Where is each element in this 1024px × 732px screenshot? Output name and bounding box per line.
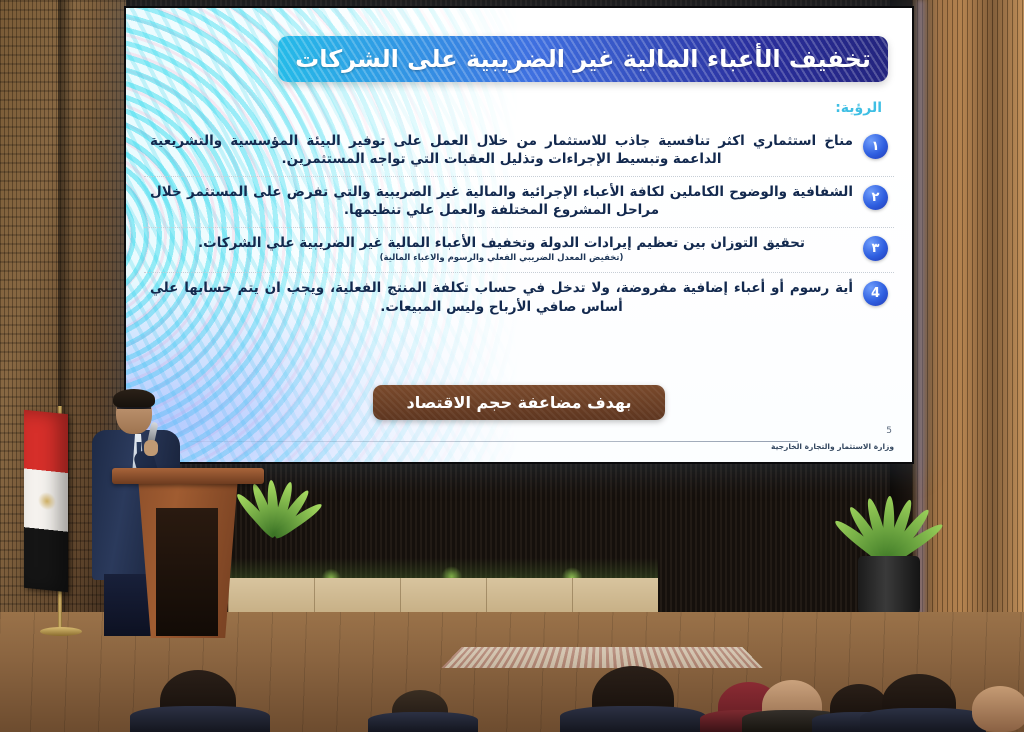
audience-shoulders (560, 706, 706, 732)
podium-top (112, 468, 264, 484)
presenter-hair (113, 389, 155, 409)
audience-shoulders (860, 708, 986, 732)
eagle-emblem-icon (38, 491, 56, 511)
bullet-number-badge: ٣ (863, 236, 888, 261)
slide-title-banner: تخفيف الأعباء المالية غير الضريبية على ا… (278, 36, 888, 82)
audience-head (972, 686, 1024, 732)
goal-banner: بهدف مضاعفة حجم الاقتصاد (126, 385, 912, 420)
bullet-text: أية رسوم أو أعباء إضافية مفروضة، ولا تدخ… (150, 279, 853, 315)
projection-screen: تخفيف الأعباء المالية غير الضريبية على ا… (124, 6, 914, 464)
audience-shoulders (130, 706, 270, 732)
flag-cloth (24, 410, 68, 593)
floor-rug (441, 647, 763, 668)
presenter-hand (144, 440, 158, 456)
slide-page-number: 5 (886, 426, 892, 436)
goal-banner-text: بهدف مضاعفة حجم الاقتصاد (373, 385, 666, 420)
bullet-item: ٣ تحقيق التوزان بين تعظيم إيرادات الدولة… (144, 227, 894, 272)
bullet-subtext: (تخفيض المعدل الضريبي الفعلي والرسوم وال… (150, 253, 853, 264)
egyptian-flag (22, 406, 70, 636)
audience (0, 640, 1024, 732)
bullet-number-badge: 4 (863, 281, 888, 306)
bullet-number-badge: ١ (863, 134, 888, 159)
bullet-text-block: تحقيق التوزان بين تعظيم إيرادات الدولة و… (150, 234, 853, 264)
bullet-item: ٢ الشفافية والوضوح الكاملين لكافة الأعبا… (144, 176, 894, 227)
bullet-text-block: الشفافية والوضوح الكاملين لكافة الأعباء … (150, 183, 853, 219)
plant-pot (858, 556, 920, 620)
bullet-text: مناخ استثماري اكثر تنافسية جاذب للاستثما… (150, 132, 853, 168)
vision-label: الرؤية: (835, 100, 882, 116)
palm-plant-right (830, 440, 950, 620)
bullet-list: ١ مناخ استثماري اكثر تنافسية جاذب للاستث… (144, 126, 894, 324)
podium-front-panel (156, 508, 218, 636)
flag-base (40, 627, 82, 636)
bullet-text-block: مناخ استثماري اكثر تنافسية جاذب للاستثما… (150, 132, 853, 168)
slide-title-text: تخفيف الأعباء المالية غير الضريبية على ا… (295, 45, 871, 73)
bullet-item: 4 أية رسوم أو أعباء إضافية مفروضة، ولا ت… (144, 272, 894, 323)
podium (120, 468, 256, 636)
audience-shoulders (368, 712, 478, 732)
bullet-text: تحقيق التوزان بين تعظيم إيرادات الدولة و… (150, 234, 853, 252)
bullet-text: الشفافية والوضوح الكاملين لكافة الأعباء … (150, 183, 853, 219)
glasses-icon (117, 407, 151, 414)
conference-hall-scene: تخفيف الأعباء المالية غير الضريبية على ا… (0, 0, 1024, 732)
bullet-text-block: أية رسوم أو أعباء إضافية مفروضة، ولا تدخ… (150, 279, 853, 315)
presentation-slide: تخفيف الأعباء المالية غير الضريبية على ا… (126, 8, 912, 462)
bullet-number-badge: ٢ (863, 185, 888, 210)
bullet-item: ١ مناخ استثماري اكثر تنافسية جاذب للاستث… (144, 126, 894, 176)
